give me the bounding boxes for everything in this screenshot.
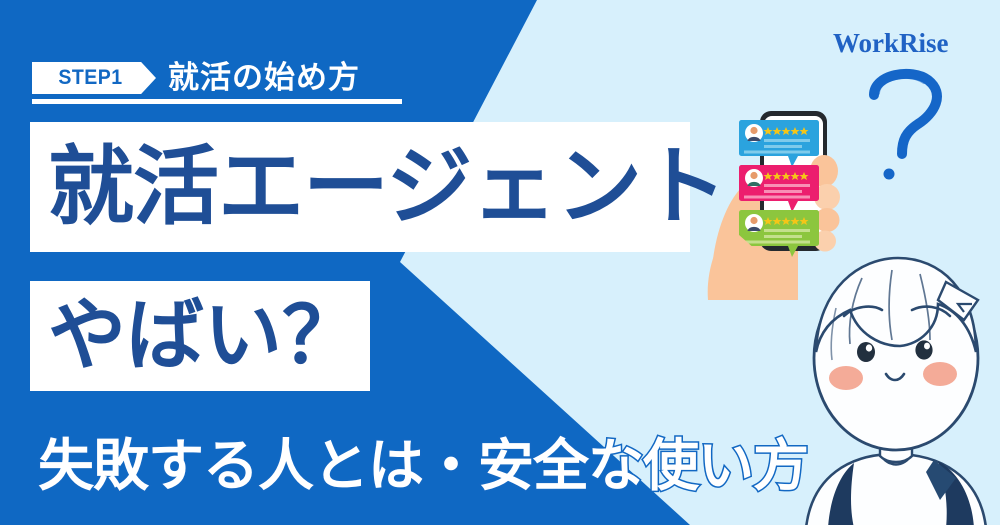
- step-row: STEP1 就活の始め方: [32, 52, 452, 104]
- headline-box-secondary: やばい？: [30, 281, 370, 391]
- step-badge-label: STEP1: [59, 66, 123, 90]
- headline-line-1: 就活エージェント: [30, 144, 726, 230]
- question-mark-icon: [860, 62, 960, 182]
- student-girl-illustration: [788, 248, 1000, 525]
- step-underline: [32, 99, 402, 104]
- headline-line-2: やばい？: [30, 297, 360, 375]
- step-badge: STEP1: [32, 62, 156, 94]
- step-label: 就活の始め方: [168, 63, 360, 94]
- headline-box-primary: 就活エージェント: [30, 122, 690, 252]
- workrise-logo: WorkRise: [833, 28, 949, 59]
- subtitle-text: 失敗する人とは・安全な使い方: [38, 432, 808, 502]
- banner-canvas: STEP1 就活の始め方 就活エージェント やばい？ 失敗する人とは・安全な使い…: [0, 0, 1000, 525]
